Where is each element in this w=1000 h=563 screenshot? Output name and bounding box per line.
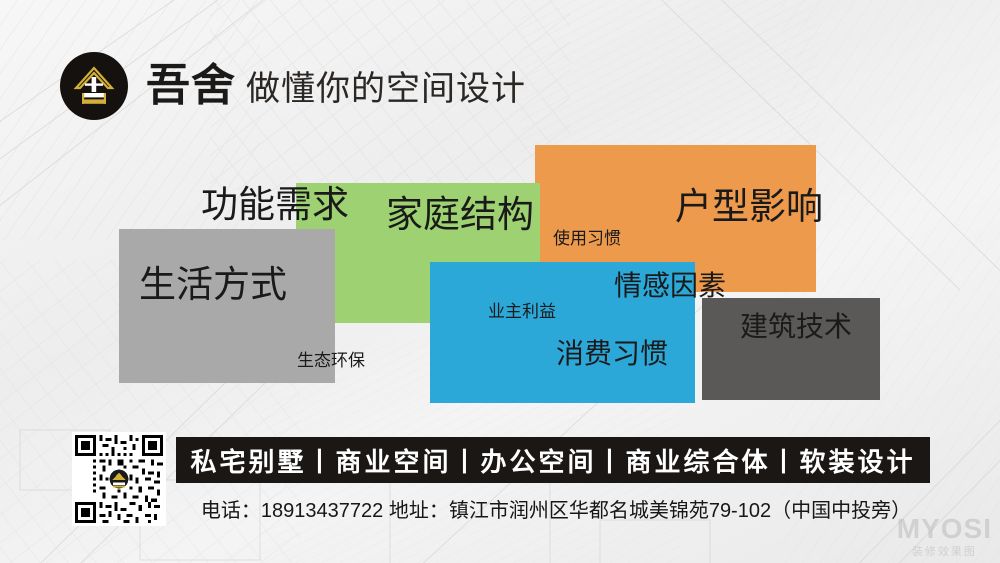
label-lifestyle: 生活方式	[139, 266, 287, 303]
label-usage-habits: 使用习惯	[553, 230, 621, 247]
brand-tagline: 做懂你的空间设计	[246, 72, 526, 106]
label-consumption: 消费习惯	[556, 340, 668, 368]
contact-line: 电话：18913437722 地址：镇江市润州区华都名城美锦苑79-102（中国…	[176, 494, 936, 523]
label-family-structure: 家庭结构	[386, 196, 534, 233]
label-eco-protection: 生态环保	[297, 352, 365, 369]
label-building-tech: 建筑技术	[740, 313, 852, 341]
brand-text: 吾舍 做懂你的空间设计	[146, 64, 526, 108]
label-functional-needs: 功能需求	[201, 186, 349, 223]
label-emotional-factor: 情感因素	[614, 272, 726, 300]
slide-canvas: 吾舍 做懂你的空间设计 功能需求 家庭结构 户型影响 生活方式 使用习惯 情感因…	[0, 0, 1000, 563]
services-banner-text: 私宅别墅丨商业空间丨办公空间丨商业综合体丨软装设计	[190, 442, 915, 479]
brand-name: 吾舍	[146, 64, 236, 108]
label-owner-interest: 业主利益	[488, 303, 556, 320]
services-banner: 私宅别墅丨商业空间丨办公空间丨商业综合体丨软装设计	[176, 437, 930, 483]
qr-code-icon[interactable]	[72, 432, 166, 526]
label-layout-influence: 户型影响	[675, 188, 823, 225]
brand-header: 吾舍 做懂你的空间设计	[60, 50, 526, 122]
she-house-logo-icon	[60, 52, 128, 120]
